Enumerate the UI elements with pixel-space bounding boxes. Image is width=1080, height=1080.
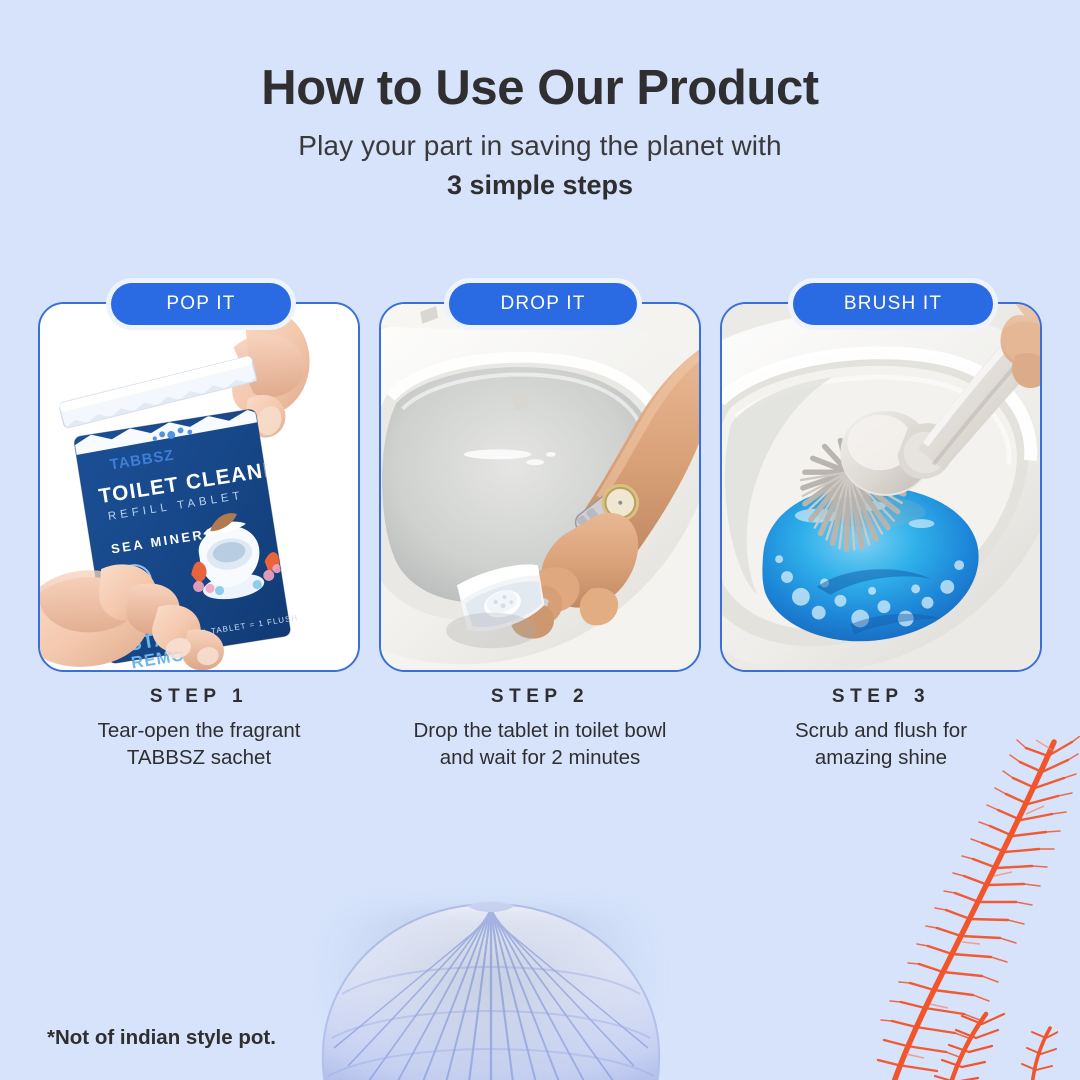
- step-1-label: STEP 1: [38, 686, 360, 708]
- step-3-description: Scrub and flush for amazing shine: [720, 717, 1042, 772]
- step-1-line-2: TABBSZ sachet: [127, 746, 271, 769]
- coral-graphic-secondary: [928, 1008, 1058, 1080]
- step-1-image: TABBSZ TOILET CLEANER REFILL TABLET SEA …: [40, 304, 358, 670]
- page-subtitle-emphasis: 3 simple steps: [0, 170, 1080, 201]
- badge-pop-it[interactable]: POP IT: [111, 283, 291, 325]
- coral-decoration-secondary: [928, 1008, 1058, 1080]
- step-2-line-2: and wait for 2 minutes: [440, 746, 641, 769]
- seashell-shadow: [324, 908, 654, 1080]
- step-3-image: [722, 304, 1040, 670]
- step-card-1[interactable]: TABBSZ TOILET CLEANER REFILL TABLET SEA …: [38, 302, 360, 672]
- step-captions: STEP 1 Tear-open the fragrant TABBSZ sac…: [38, 686, 1042, 772]
- page-subtitle: Play your part in saving the planet with: [0, 130, 1080, 162]
- step-2-line-1: Drop the tablet in toilet bowl: [414, 719, 667, 742]
- steps-card-row: TABBSZ TOILET CLEANER REFILL TABLET SEA …: [38, 302, 1042, 674]
- step-1-line-1: Tear-open the fragrant: [98, 719, 301, 742]
- hands-tearing-sachet-illustration: TABBSZ TOILET CLEANER REFILL TABLET SEA …: [40, 304, 358, 670]
- step-2-label: STEP 2: [379, 686, 701, 708]
- step-3-line-1: Scrub and flush for: [795, 719, 967, 742]
- step-3-line-2: amazing shine: [815, 746, 947, 769]
- page-header: How to Use Our Product Play your part in…: [0, 0, 1080, 201]
- seashell-decoration: [318, 898, 664, 1080]
- page-title: How to Use Our Product: [0, 60, 1080, 116]
- step-card-2[interactable]: [379, 302, 701, 672]
- step-2-description: Drop the tablet in toilet bowl and wait …: [379, 717, 701, 772]
- step-3-label: STEP 3: [720, 686, 1042, 708]
- step-2-image: [381, 304, 699, 670]
- coral-graphic: [876, 736, 1080, 1080]
- seashell-graphic: [318, 898, 664, 1080]
- hand-dropping-tablet-illustration: [381, 304, 699, 670]
- footnote-disclaimer: *Not of indian style pot.: [47, 1026, 276, 1050]
- step-caption-2: STEP 2 Drop the tablet in toilet bowl an…: [379, 686, 701, 772]
- step-caption-1: STEP 1 Tear-open the fragrant TABBSZ sac…: [38, 686, 360, 772]
- step-caption-3: STEP 3 Scrub and flush for amazing shine: [720, 686, 1042, 772]
- badge-brush-it[interactable]: BRUSH IT: [793, 283, 993, 325]
- step-card-3[interactable]: [720, 302, 1042, 672]
- badge-drop-it[interactable]: DROP IT: [449, 283, 637, 325]
- step-badges: POP IT DROP IT BRUSH IT: [38, 283, 1042, 327]
- brush-scrubbing-illustration: [722, 304, 1040, 670]
- coral-decoration: [876, 736, 1080, 1080]
- step-1-description: Tear-open the fragrant TABBSZ sachet: [38, 717, 360, 772]
